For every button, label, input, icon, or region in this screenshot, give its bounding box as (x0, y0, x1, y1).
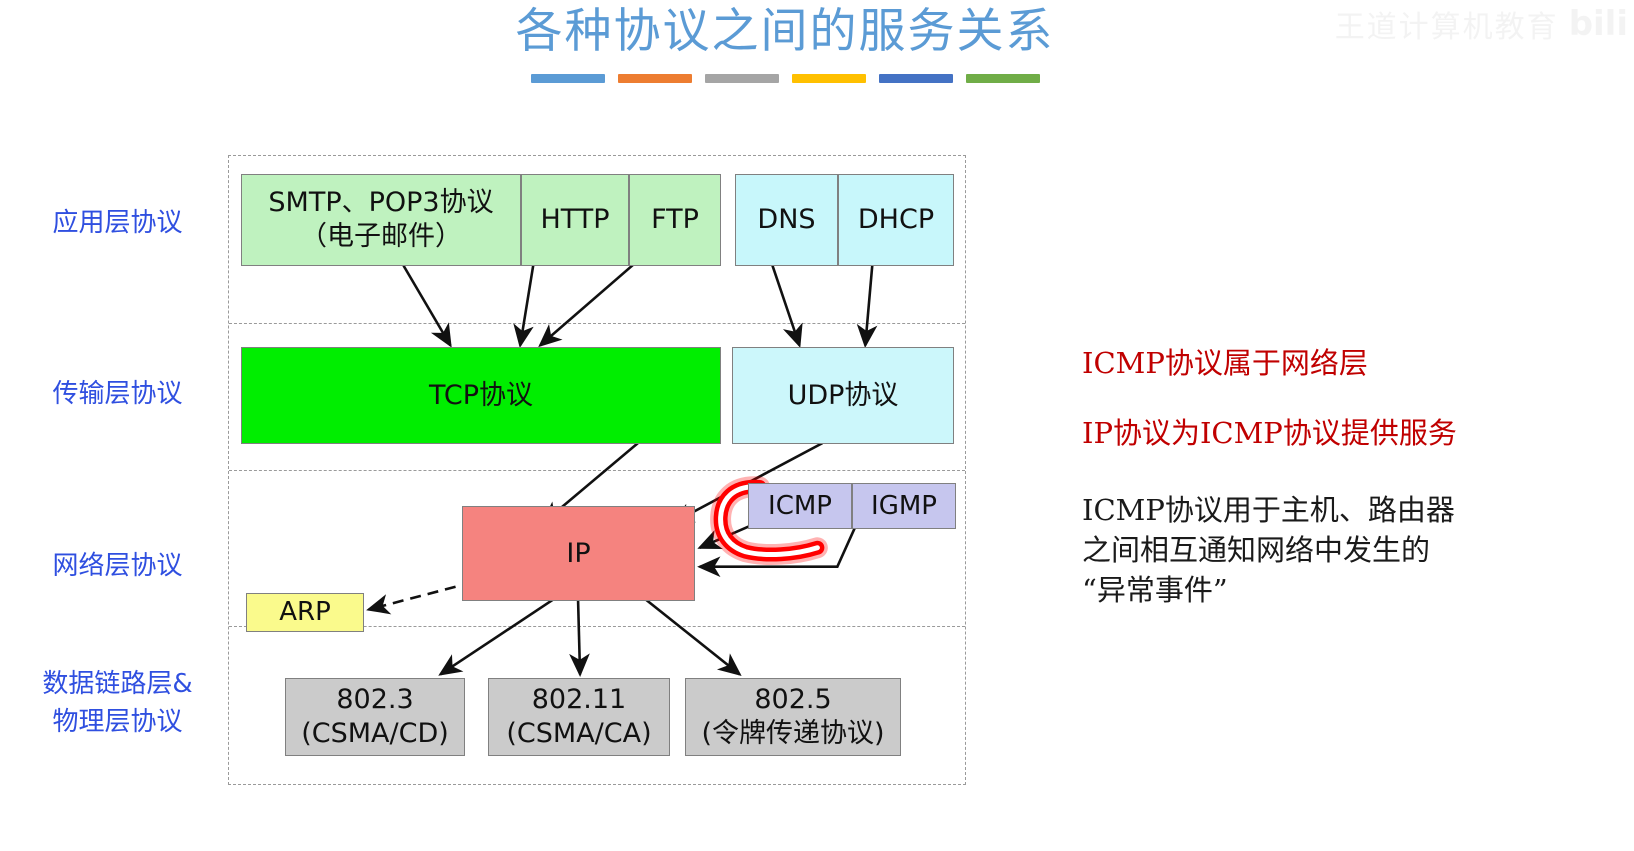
note-icmp-purpose-line1: ICMP协议用于主机、路由器 (1082, 490, 1552, 530)
box-dns[interactable]: DNS (735, 174, 838, 266)
box-dhcp[interactable]: DHCP (838, 174, 954, 266)
box-802-3-line2: (CSMA/CD) (301, 717, 449, 751)
box-802-3[interactable]: 802.3 (CSMA/CD) (285, 678, 465, 756)
box-802-5-line2: (令牌传递协议) (701, 717, 884, 751)
box-802-11-line2: (CSMA/CA) (506, 717, 651, 751)
layer-label-physical-line2: 物理层协议 (10, 704, 225, 742)
layer-label-datalink-line1: 数据链路层& (10, 666, 225, 704)
page-title: 各种协议之间的服务关系 (0, 4, 1570, 60)
layer-label-datalink-physical: 数据链路层& 物理层协议 (10, 666, 225, 741)
box-http[interactable]: HTTP (521, 174, 629, 266)
title-bars (0, 74, 1570, 83)
title-bar-orange (618, 74, 692, 83)
title-block: 各种协议之间的服务关系 (0, 4, 1570, 83)
box-http-label: HTTP (540, 203, 609, 237)
box-arp-label: ARP (279, 596, 331, 629)
divider-app-transport (229, 323, 965, 324)
box-802-11[interactable]: 802.11 (CSMA/CA) (488, 678, 670, 756)
box-802-3-line1: 802.3 (336, 683, 413, 717)
note-icmp-layer: ICMP协议属于网络层 (1082, 345, 1552, 383)
box-dns-label: DNS (757, 203, 815, 237)
box-ftp-label: FTP (651, 203, 699, 237)
box-udp-label: UDP协议 (788, 379, 899, 413)
title-bar-green (966, 74, 1040, 83)
title-bar-yellow (792, 74, 866, 83)
title-bar-blue (531, 74, 605, 83)
box-802-5[interactable]: 802.5 (令牌传递协议) (685, 678, 901, 756)
note-icmp-purpose-line3: “异常事件” (1082, 570, 1552, 610)
box-ip-label: IP (566, 537, 590, 571)
box-igmp-label: IGMP (871, 490, 937, 523)
box-smtp-pop3-line1: SMTP、POP3协议 (268, 186, 493, 220)
box-ftp[interactable]: FTP (629, 174, 721, 266)
layer-label-application: 应用层协议 (10, 205, 225, 243)
box-icmp[interactable]: ICMP (748, 483, 852, 529)
divider-transport-network (229, 470, 965, 471)
slide-canvas: 王道计算机教育 bili 各种协议之间的服务关系 应用层协议 传输层协议 网络层… (0, 0, 1634, 851)
box-tcp-label: TCP协议 (429, 379, 533, 413)
title-bar-gray (705, 74, 779, 83)
box-arp[interactable]: ARP (246, 593, 364, 632)
box-tcp[interactable]: TCP协议 (241, 347, 721, 444)
box-igmp[interactable]: IGMP (852, 483, 956, 529)
box-dhcp-label: DHCP (858, 203, 934, 237)
layer-label-network: 网络层协议 (10, 548, 225, 586)
protocol-stack-diagram: SMTP、POP3协议 （电子邮件） HTTP FTP DNS DHCP TCP… (228, 155, 966, 785)
box-802-5-line1: 802.5 (754, 683, 831, 717)
layer-label-transport: 传输层协议 (10, 376, 225, 414)
box-ip[interactable]: IP (462, 506, 695, 601)
annotation-notes: ICMP协议属于网络层 IP协议为ICMP协议提供服务 ICMP协议用于主机、路… (1082, 345, 1552, 610)
box-smtp-pop3[interactable]: SMTP、POP3协议 （电子邮件） (241, 174, 521, 266)
box-smtp-pop3-line2: （电子邮件） (300, 220, 462, 254)
bilibili-logo-icon: bili (1569, 4, 1628, 44)
box-802-11-line1: 802.11 (532, 683, 626, 717)
note-ip-serves-icmp: IP协议为ICMP协议提供服务 (1082, 415, 1552, 453)
note-icmp-purpose: ICMP协议用于主机、路由器 之间相互通知网络中发生的 “异常事件” (1082, 490, 1552, 610)
note-icmp-purpose-line2: 之间相互通知网络中发生的 (1082, 530, 1552, 570)
box-udp[interactable]: UDP协议 (732, 347, 954, 444)
box-icmp-label: ICMP (768, 490, 832, 523)
title-bar-navy (879, 74, 953, 83)
